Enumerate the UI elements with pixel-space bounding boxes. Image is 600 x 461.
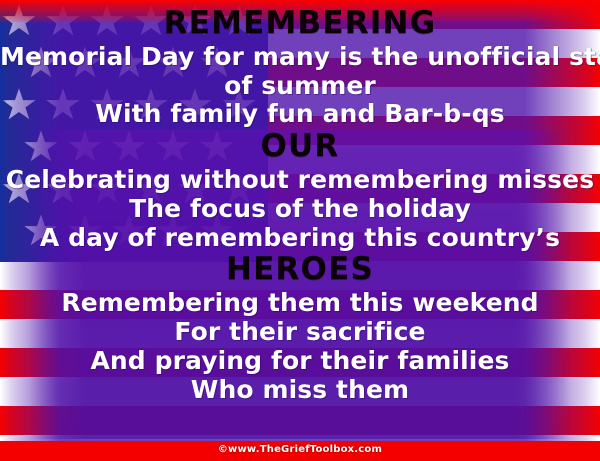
poem-line-5: The focus of the holiday: [0, 195, 600, 224]
poem-line-7: Remembering them this weekend: [0, 289, 600, 318]
poem-line-8: For their sacrifice: [0, 318, 600, 347]
poem-heading-remembering: REMEMBERING: [0, 6, 600, 43]
poem-line-4: Celebrating without remembering misses: [0, 166, 600, 195]
copyright-credit: ©www.TheGriefToolbox.com: [0, 444, 600, 455]
poem-line-9: And praying for their families: [0, 347, 600, 376]
memorial-day-poster: REMEMBERING Memorial Day for many is the…: [0, 0, 600, 461]
poem-line-1: Memorial Day for many is the unofficial …: [0, 43, 600, 72]
poem-line-3: With family fun and Bar-b-qs: [0, 100, 600, 129]
poem-text-block: REMEMBERING Memorial Day for many is the…: [0, 0, 600, 461]
poem-heading-heroes: HEROES: [0, 252, 600, 289]
poem-line-10: Who miss them: [0, 376, 600, 405]
poem-heading-our: OUR: [0, 129, 600, 166]
poem-line-6: A day of remembering this country’s: [0, 224, 600, 253]
poem-line-2: of summer: [0, 72, 600, 101]
